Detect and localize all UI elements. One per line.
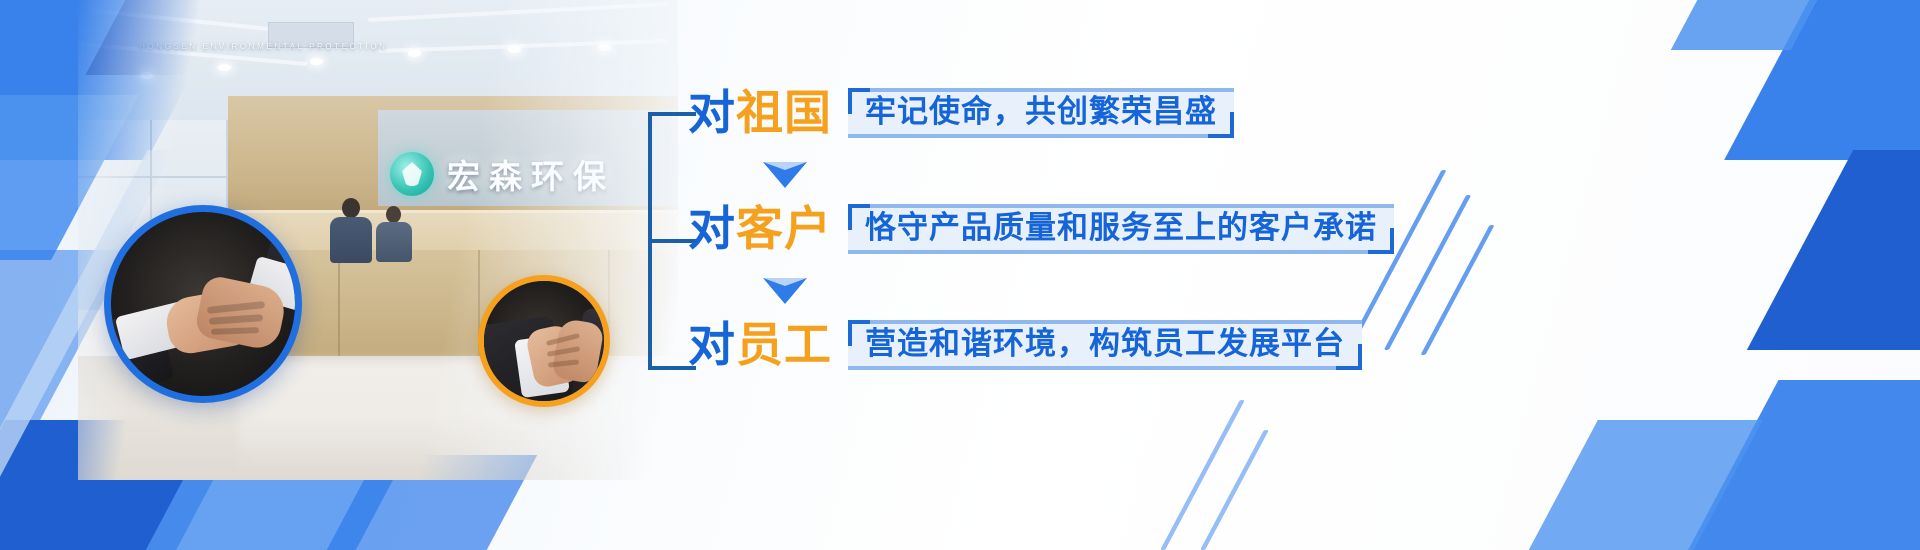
handshake-image — [111, 212, 295, 396]
value-row-3: 对 员工 营造和谐环境，构筑员工发展平台 — [688, 320, 1362, 370]
decor-line-4 — [1160, 400, 1245, 550]
value-lead-1-prefix: 对 — [688, 89, 736, 136]
applause-photo — [478, 275, 610, 407]
value-quote-1: 牢记使命，共创繁荣昌盛 — [848, 88, 1234, 138]
value-quote-3-text: 营造和谐环境，构筑员工发展平台 — [865, 327, 1345, 362]
value-row-1: 对 祖国 牢记使命，共创繁荣昌盛 — [688, 88, 1234, 138]
value-lead-1: 对 祖国 — [688, 89, 832, 136]
value-row-2: 对 客户 恪守产品质量和服务至上的客户承诺 — [688, 204, 1394, 254]
value-quote-3: 营造和谐环境，构筑员工发展平台 — [848, 320, 1362, 370]
value-lead-2-prefix: 对 — [688, 205, 736, 252]
value-quote-2-text: 恪守产品质量和服务至上的客户承诺 — [865, 211, 1377, 246]
decor-line-5 — [1200, 430, 1269, 550]
value-lead-1-target: 祖国 — [736, 89, 832, 136]
value-lead-2: 对 客户 — [688, 205, 832, 252]
value-lead-2-target: 客户 — [736, 205, 832, 252]
value-lead-3: 对 员工 — [688, 321, 832, 368]
company-sign: 宏森环保 — [390, 150, 615, 198]
banner-root: 宏森环保 HONGSEN ENVIRONMENTAL PROTECTION — [0, 0, 1920, 550]
triangle-down-icon — [763, 162, 807, 188]
applause-image — [484, 281, 604, 401]
value-quote-1-text: 牢记使命，共创繁荣昌盛 — [865, 95, 1217, 130]
value-lead-3-prefix: 对 — [688, 321, 736, 368]
triangle-down-icon — [763, 278, 807, 304]
value-lead-3-target: 员工 — [736, 321, 832, 368]
company-sign-subtitle: HONGSEN ENVIRONMENTAL PROTECTION — [139, 42, 388, 51]
company-sign-name: 宏森环保 — [447, 150, 615, 198]
value-quote-2: 恪守产品质量和服务至上的客户承诺 — [848, 204, 1394, 254]
handshake-photo — [104, 205, 302, 403]
leaf-globe-icon — [390, 152, 434, 196]
values-block: 对 祖国 牢记使命，共创繁荣昌盛 对 客户 恪守产品质量和服务至上的客户承诺 对 — [648, 76, 1658, 406]
decor-shape-right-3 — [1747, 150, 1920, 350]
bracket-connector — [648, 112, 692, 370]
